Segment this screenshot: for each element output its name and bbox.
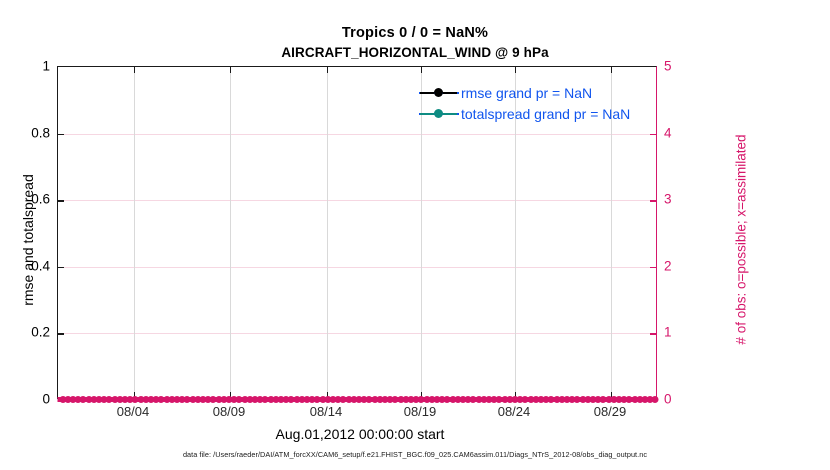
obs-marker-possible [59,396,66,403]
obs-marker-assimilated [73,397,78,402]
obs-marker-assimilated [167,397,172,402]
obs-marker-possible [584,396,591,403]
obs-marker-assimilated [84,397,89,402]
obs-marker-possible [428,396,435,403]
obs-marker-assimilated [354,397,359,402]
obs-marker-possible [96,396,103,403]
obs-marker-possible [189,396,196,403]
obs-marker-assimilated [505,397,510,402]
obs-marker-possible [142,396,149,403]
obs-marker-assimilated [312,397,317,402]
xtick-mark-top [134,67,135,73]
obs-marker-assimilated [281,397,286,402]
obs-marker-assimilated [474,397,479,402]
obs-marker-assimilated [182,397,187,402]
obs-marker-possible [387,396,394,403]
obs-marker-possible [106,396,113,403]
legend-label-totalspread: totalspread grand pr = NaN [461,106,630,122]
obs-marker-assimilated [468,397,473,402]
obs-marker-assimilated [234,397,239,402]
obs-marker-possible [569,396,576,403]
xtick-label: 08/04 [117,404,150,419]
xtick-mark [515,392,516,398]
xtick-label: 08/24 [498,404,531,419]
obs-marker-assimilated [297,397,302,402]
ytick-mark-left [58,267,64,268]
obs-marker-possible [522,396,529,403]
obs-marker-assimilated [385,397,390,402]
obs-marker-assimilated [359,397,364,402]
obs-marker-assimilated [541,397,546,402]
obs-marker-assimilated [458,397,463,402]
obs-marker-possible [517,396,524,403]
obs-marker-possible [548,396,555,403]
obs-marker-possible [460,396,467,403]
obs-marker-possible [434,396,441,403]
obs-marker-possible [184,396,191,403]
obs-marker-possible [626,396,633,403]
obs-marker-assimilated [333,397,338,402]
obs-marker-possible [257,396,264,403]
obs-marker-possible [215,396,222,403]
obs-marker-assimilated [260,397,265,402]
obs-marker-possible [64,396,71,403]
obs-marker-possible [636,396,643,403]
ytick-right-1: 1 [664,325,672,340]
obs-marker-assimilated [401,397,406,402]
obs-marker-possible [309,396,316,403]
obs-marker-possible [179,396,186,403]
legend-marker-rmse-icon [419,86,459,100]
gridline-vertical [327,67,328,398]
obs-marker-possible [350,396,357,403]
obs-marker-possible [558,396,565,403]
obs-marker-possible [590,396,597,403]
ytick-right-2: 2 [664,258,672,273]
obs-marker-possible [200,396,207,403]
xtick-mark-top [611,67,612,73]
obs-marker-possible [168,396,175,403]
obs-marker-possible [127,396,134,403]
xtick-mark [611,392,612,398]
obs-marker-assimilated [583,397,588,402]
obs-marker-assimilated [567,397,572,402]
obs-marker-possible [532,396,539,403]
obs-marker-possible [392,396,399,403]
obs-marker-assimilated [630,397,635,402]
obs-marker-possible [527,396,534,403]
obs-marker-possible [330,396,337,403]
obs-marker-possible [80,396,87,403]
obs-marker-possible [174,396,181,403]
obs-marker-possible [579,396,586,403]
ytick-right-0: 0 [664,392,672,407]
obs-marker-possible [361,396,368,403]
obs-marker-possible [153,396,160,403]
obs-marker-assimilated [588,397,593,402]
obs-marker-possible [408,396,415,403]
obs-marker-possible [356,396,363,403]
obs-marker-possible [631,396,638,403]
obs-marker-possible [101,396,108,403]
obs-marker-assimilated [380,397,385,402]
obs-marker-assimilated [78,397,83,402]
obs-marker-assimilated [89,397,94,402]
obs-marker-possible [449,396,456,403]
obs-marker-assimilated [500,397,505,402]
obs-marker-possible [470,396,477,403]
obs-marker-possible [293,396,300,403]
xtick-mark [134,392,135,398]
obs-marker-possible [283,396,290,403]
ytick-mark-right [650,400,656,402]
obs-marker-possible [595,396,602,403]
obs-marker-possible [111,396,118,403]
obs-marker-possible [314,396,321,403]
obs-marker-possible [465,396,472,403]
obs-marker-assimilated [604,397,609,402]
obs-marker-possible [439,396,446,403]
obs-marker-possible [137,396,144,403]
obs-marker-possible [335,396,342,403]
obs-marker-assimilated [536,397,541,402]
ytick-mark-left [58,200,64,201]
obs-marker-assimilated [349,397,354,402]
xtick-mark [421,392,422,398]
obs-marker-possible [501,396,508,403]
obs-marker-possible [345,396,352,403]
obs-marker-assimilated [593,397,598,402]
obs-marker-possible [423,396,430,403]
obs-marker-assimilated [406,397,411,402]
obs-marker-possible [267,396,274,403]
obs-marker-possible [480,396,487,403]
obs-marker-possible [475,396,482,403]
obs-marker-possible [304,396,311,403]
obs-marker-assimilated [58,397,63,402]
ytick-right-4: 4 [664,125,672,140]
obs-marker-possible [241,396,248,403]
obs-marker-assimilated [255,397,260,402]
ytick-mark-right [650,333,656,335]
obs-marker-possible [288,396,295,403]
obs-marker-assimilated [546,397,551,402]
obs-marker-assimilated [245,397,250,402]
obs-marker-assimilated [640,397,645,402]
obs-marker-possible [506,396,513,403]
obs-marker-assimilated [141,397,146,402]
obs-marker-possible [205,396,212,403]
chart-title-primary: Tropics 0 / 0 = NaN% [0,24,830,44]
obs-marker-possible [371,396,378,403]
obs-marker-assimilated [146,397,151,402]
obs-marker-assimilated [198,397,203,402]
obs-marker-assimilated [619,397,624,402]
obs-marker-assimilated [442,397,447,402]
xtick-mark [327,392,328,398]
obs-marker-possible [194,396,201,403]
ytick-right-3: 3 [664,192,672,207]
ytick-mark-right [650,200,656,202]
obs-marker-possible [319,396,326,403]
obs-marker-possible [90,396,97,403]
obs-marker-possible [163,396,170,403]
y-axis-label-left: rmse and totalspread [20,130,36,350]
obs-marker-assimilated [94,397,99,402]
obs-marker-possible [402,396,409,403]
obs-marker-assimilated [276,397,281,402]
obs-marker-possible [246,396,253,403]
obs-marker-assimilated [479,397,484,402]
ytick-right-5: 5 [664,59,672,74]
gridline-vertical [230,67,231,398]
obs-marker-possible [85,396,92,403]
obs-marker-assimilated [572,397,577,402]
obs-marker-assimilated [552,397,557,402]
obs-marker-assimilated [177,397,182,402]
obs-marker-assimilated [292,397,297,402]
obs-marker-assimilated [193,397,198,402]
obs-marker-assimilated [125,397,130,402]
obs-marker-possible [116,396,123,403]
obs-marker-possible [491,396,498,403]
obs-marker-assimilated [427,397,432,402]
obs-marker-assimilated [188,397,193,402]
xtick-label: 08/09 [213,404,246,419]
obs-marker-possible [220,396,227,403]
obs-marker-assimilated [562,397,567,402]
obs-marker-assimilated [411,397,416,402]
obs-marker-possible [600,396,607,403]
obs-marker-assimilated [318,397,323,402]
obs-marker-assimilated [364,397,369,402]
obs-marker-assimilated [115,397,120,402]
obs-marker-assimilated [338,397,343,402]
xtick-label: 08/19 [404,404,437,419]
obs-marker-assimilated [448,397,453,402]
x-axis-label: Aug.01,2012 00:00:00 start [0,426,720,442]
obs-marker-assimilated [390,397,395,402]
obs-marker-possible [616,396,623,403]
xtick-label: 08/29 [594,404,627,419]
obs-marker-assimilated [240,397,245,402]
obs-marker-assimilated [526,397,531,402]
gridline-horizontal [58,333,656,334]
obs-marker-assimilated [520,397,525,402]
obs-marker-assimilated [375,397,380,402]
obs-marker-assimilated [156,397,161,402]
obs-marker-assimilated [224,397,229,402]
obs-marker-assimilated [396,397,401,402]
obs-marker-assimilated [453,397,458,402]
xtick-mark-top [327,67,328,73]
chart-title-block: Tropics 0 / 0 = NaN% AIRCRAFT_HORIZONTAL… [0,24,830,62]
obs-marker-assimilated [328,397,333,402]
ytick-mark-right [650,267,656,269]
obs-marker-assimilated [219,397,224,402]
obs-marker-possible [543,396,550,403]
obs-marker-assimilated [302,397,307,402]
ytick-mark-left [58,333,64,334]
obs-marker-possible [397,396,404,403]
obs-marker-assimilated [614,397,619,402]
obs-marker-assimilated [63,397,68,402]
obs-marker-possible [75,396,82,403]
obs-marker-possible [454,396,461,403]
obs-marker-assimilated [286,397,291,402]
obs-marker-assimilated [136,397,141,402]
obs-marker-possible [574,396,581,403]
obs-marker-possible [564,396,571,403]
obs-marker-assimilated [162,397,167,402]
obs-marker-possible [262,396,269,403]
obs-marker-assimilated [68,397,73,402]
obs-marker-possible [444,396,451,403]
obs-marker-assimilated [307,397,312,402]
obs-marker-assimilated [110,397,115,402]
legend-label-rmse: rmse grand pr = NaN [461,85,592,101]
obs-marker-possible [70,396,77,403]
obs-marker-assimilated [578,397,583,402]
obs-marker-assimilated [120,397,125,402]
y-axis-label-right: # of obs: o=possible; x=assimilated [734,90,749,390]
obs-marker-possible [226,396,233,403]
obs-marker-possible [132,396,139,403]
obs-marker-possible [231,396,238,403]
gridline-horizontal [58,200,656,201]
obs-marker-assimilated [598,397,603,402]
obs-marker-possible [496,396,503,403]
obs-marker-possible [621,396,628,403]
obs-marker-assimilated [250,397,255,402]
obs-marker-possible [366,396,373,403]
obs-marker-possible [376,396,383,403]
xtick-label: 08/14 [310,404,343,419]
xtick-mark-top [230,67,231,73]
obs-marker-possible [278,396,285,403]
obs-marker-possible [252,396,259,403]
obs-marker-assimilated [271,397,276,402]
obs-count-marker-series [58,393,656,402]
ytick-left-1: 1 [4,59,50,74]
legend-entry-totalspread[interactable]: totalspread grand pr = NaN [419,104,630,123]
xtick-mark-top [421,67,422,73]
obs-marker-assimilated [624,397,629,402]
obs-marker-assimilated [344,397,349,402]
obs-marker-possible [538,396,545,403]
obs-marker-possible [210,396,217,403]
obs-marker-assimilated [214,397,219,402]
xtick-mark [230,392,231,398]
obs-marker-possible [340,396,347,403]
chart-legend: rmse grand pr = NaN totalspread grand pr… [419,83,630,123]
obs-marker-assimilated [104,397,109,402]
obs-marker-possible [413,396,420,403]
obs-marker-assimilated [203,397,208,402]
plot-area[interactable]: rmse grand pr = NaN totalspread grand pr… [57,66,657,399]
obs-marker-assimilated [151,397,156,402]
ytick-left-0: 0 [4,392,50,407]
obs-marker-assimilated [208,397,213,402]
obs-marker-possible [272,396,279,403]
obs-marker-assimilated [531,397,536,402]
obs-marker-possible [122,396,129,403]
legend-entry-rmse[interactable]: rmse grand pr = NaN [419,83,630,102]
obs-marker-assimilated [635,397,640,402]
obs-marker-possible [158,396,165,403]
ytick-mark-left [58,134,64,135]
obs-marker-assimilated [463,397,468,402]
obs-marker-possible [148,396,155,403]
obs-marker-possible [642,396,649,403]
obs-marker-possible [553,396,560,403]
ytick-mark-right [650,134,656,136]
obs-marker-possible [298,396,305,403]
obs-marker-assimilated [494,397,499,402]
data-file-footer: data file: /Users/raeder/DAI/ATM_forcXX/… [0,450,830,459]
obs-marker-possible [236,396,243,403]
obs-marker-assimilated [489,397,494,402]
obs-marker-assimilated [370,397,375,402]
chart-title-secondary: AIRCRAFT_HORIZONTAL_WIND @ 9 hPa [0,44,830,62]
obs-marker-assimilated [484,397,489,402]
legend-marker-totalspread-icon [419,107,459,121]
obs-marker-assimilated [557,397,562,402]
obs-marker-assimilated [172,397,177,402]
obs-marker-possible [382,396,389,403]
xtick-mark-top [515,67,516,73]
obs-marker-assimilated [99,397,104,402]
obs-marker-possible [486,396,493,403]
gridline-horizontal [58,267,656,268]
obs-marker-assimilated [266,397,271,402]
gridline-horizontal [58,134,656,135]
obs-marker-assimilated [437,397,442,402]
gridline-vertical [134,67,135,398]
obs-marker-assimilated [432,397,437,402]
